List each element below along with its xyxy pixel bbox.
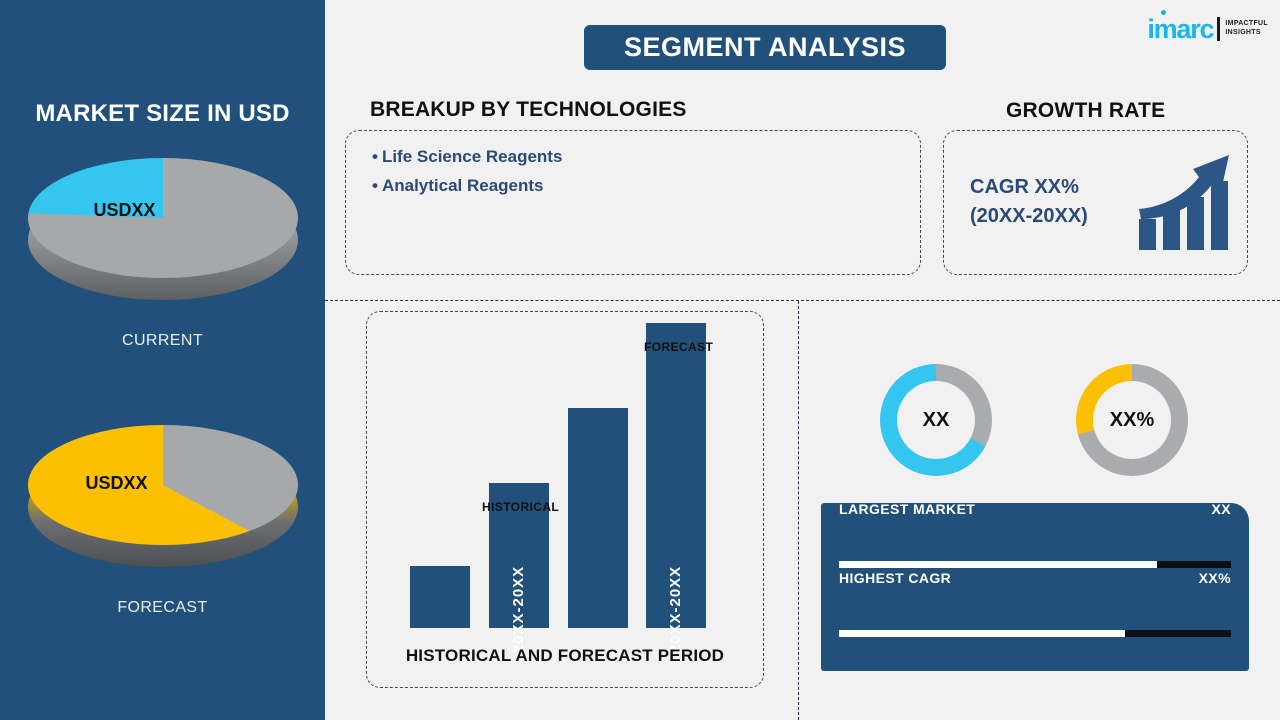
market-share-donut-value: XX <box>897 381 975 459</box>
stat-progress-fill <box>839 561 1157 568</box>
infographic-canvas: MARKET SIZE IN USD USDXX CURRENT USDXX F… <box>0 0 1280 720</box>
pie-3d-top <box>28 425 298 545</box>
logo-wordmark: imarc <box>1147 14 1213 44</box>
bar-chart-axis-label: HISTORICAL AND FORECAST PERIOD <box>366 646 764 666</box>
historical-label: HISTORICAL <box>482 500 559 514</box>
bar-4-period: 20XX-20XX <box>646 601 706 618</box>
page-title: SEGMENT ANALYSIS <box>584 25 946 70</box>
cagr-line-1: CAGR XX% <box>970 173 1088 202</box>
current-pie-caption: CURRENT <box>0 332 325 350</box>
current-pie-block: USDXX CURRENT <box>0 158 325 350</box>
market-share-donut: XX <box>880 364 992 476</box>
stat-progress-fill <box>839 630 1125 637</box>
current-pie-chart: USDXX <box>28 158 298 318</box>
growth-rate-heading: GROWTH RATE <box>1006 99 1165 123</box>
bar-2-period: 20XX-20XX <box>489 601 549 618</box>
forecast-label: FORECAST <box>644 340 713 354</box>
growth-rate-card: CAGR XX% (20XX-20XX) <box>943 130 1248 275</box>
technologies-list: •Life Science Reagents •Analytical Reage… <box>372 142 562 200</box>
sidebar-title: MARKET SIZE IN USD <box>0 100 325 128</box>
growth-share-donut-value: XX% <box>1093 381 1171 459</box>
growth-bar-arrow-icon <box>1137 153 1233 256</box>
horizontal-divider <box>325 300 1280 301</box>
historical-forecast-bar-chart: 20XX-20XX 20XX-20XX HISTORICAL FORECAST … <box>366 311 764 688</box>
stat-progress-track <box>839 630 1231 637</box>
list-item-label: Analytical Reagents <box>382 176 544 195</box>
logo-tagline-line1: IMPACTFUL <box>1225 20 1268 29</box>
list-item-label: Life Science Reagents <box>382 147 562 166</box>
growth-share-donut: XX% <box>1076 364 1188 476</box>
logo-tagline: IMPACTFUL INSIGHTS <box>1225 20 1268 38</box>
list-item: •Analytical Reagents <box>372 171 562 200</box>
bar-4: 20XX-20XX <box>646 323 706 628</box>
bar-1 <box>410 566 470 628</box>
key-stats-panel: LARGEST MARKET XX HIGHEST CAGR XX% <box>821 503 1249 671</box>
market-size-sidebar: MARKET SIZE IN USD USDXX CURRENT USDXX F… <box>0 0 325 720</box>
cagr-line-2: (20XX-20XX) <box>970 202 1088 231</box>
logo-tagline-line2: INSIGHTS <box>1225 29 1268 38</box>
stat-progress-track <box>839 561 1231 568</box>
bullet-icon: • <box>372 176 378 195</box>
stat-label: LARGEST MARKET <box>839 501 975 517</box>
bar-3 <box>568 408 628 628</box>
forecast-pie-chart: USDXX <box>28 425 298 585</box>
list-item: •Life Science Reagents <box>372 142 562 171</box>
stat-value: XX <box>1212 501 1231 517</box>
forecast-pie-block: USDXX FORECAST <box>0 425 325 617</box>
logo-divider-icon <box>1217 17 1220 41</box>
pie-3d-top <box>28 158 298 278</box>
forecast-pie-caption: FORECAST <box>0 599 325 617</box>
technologies-card: •Life Science Reagents •Analytical Reage… <box>345 130 921 275</box>
stat-label: HIGHEST CAGR <box>839 570 951 586</box>
imarc-logo: imarc IMPACTFUL INSIGHTS <box>1147 14 1268 44</box>
cagr-text: CAGR XX% (20XX-20XX) <box>970 173 1088 231</box>
stat-value: XX% <box>1199 570 1231 586</box>
bullet-icon: • <box>372 147 378 166</box>
vertical-divider <box>798 301 799 720</box>
technologies-heading: BREAKUP BY TECHNOLOGIES <box>370 98 687 122</box>
logo-dot-icon <box>1161 10 1166 15</box>
